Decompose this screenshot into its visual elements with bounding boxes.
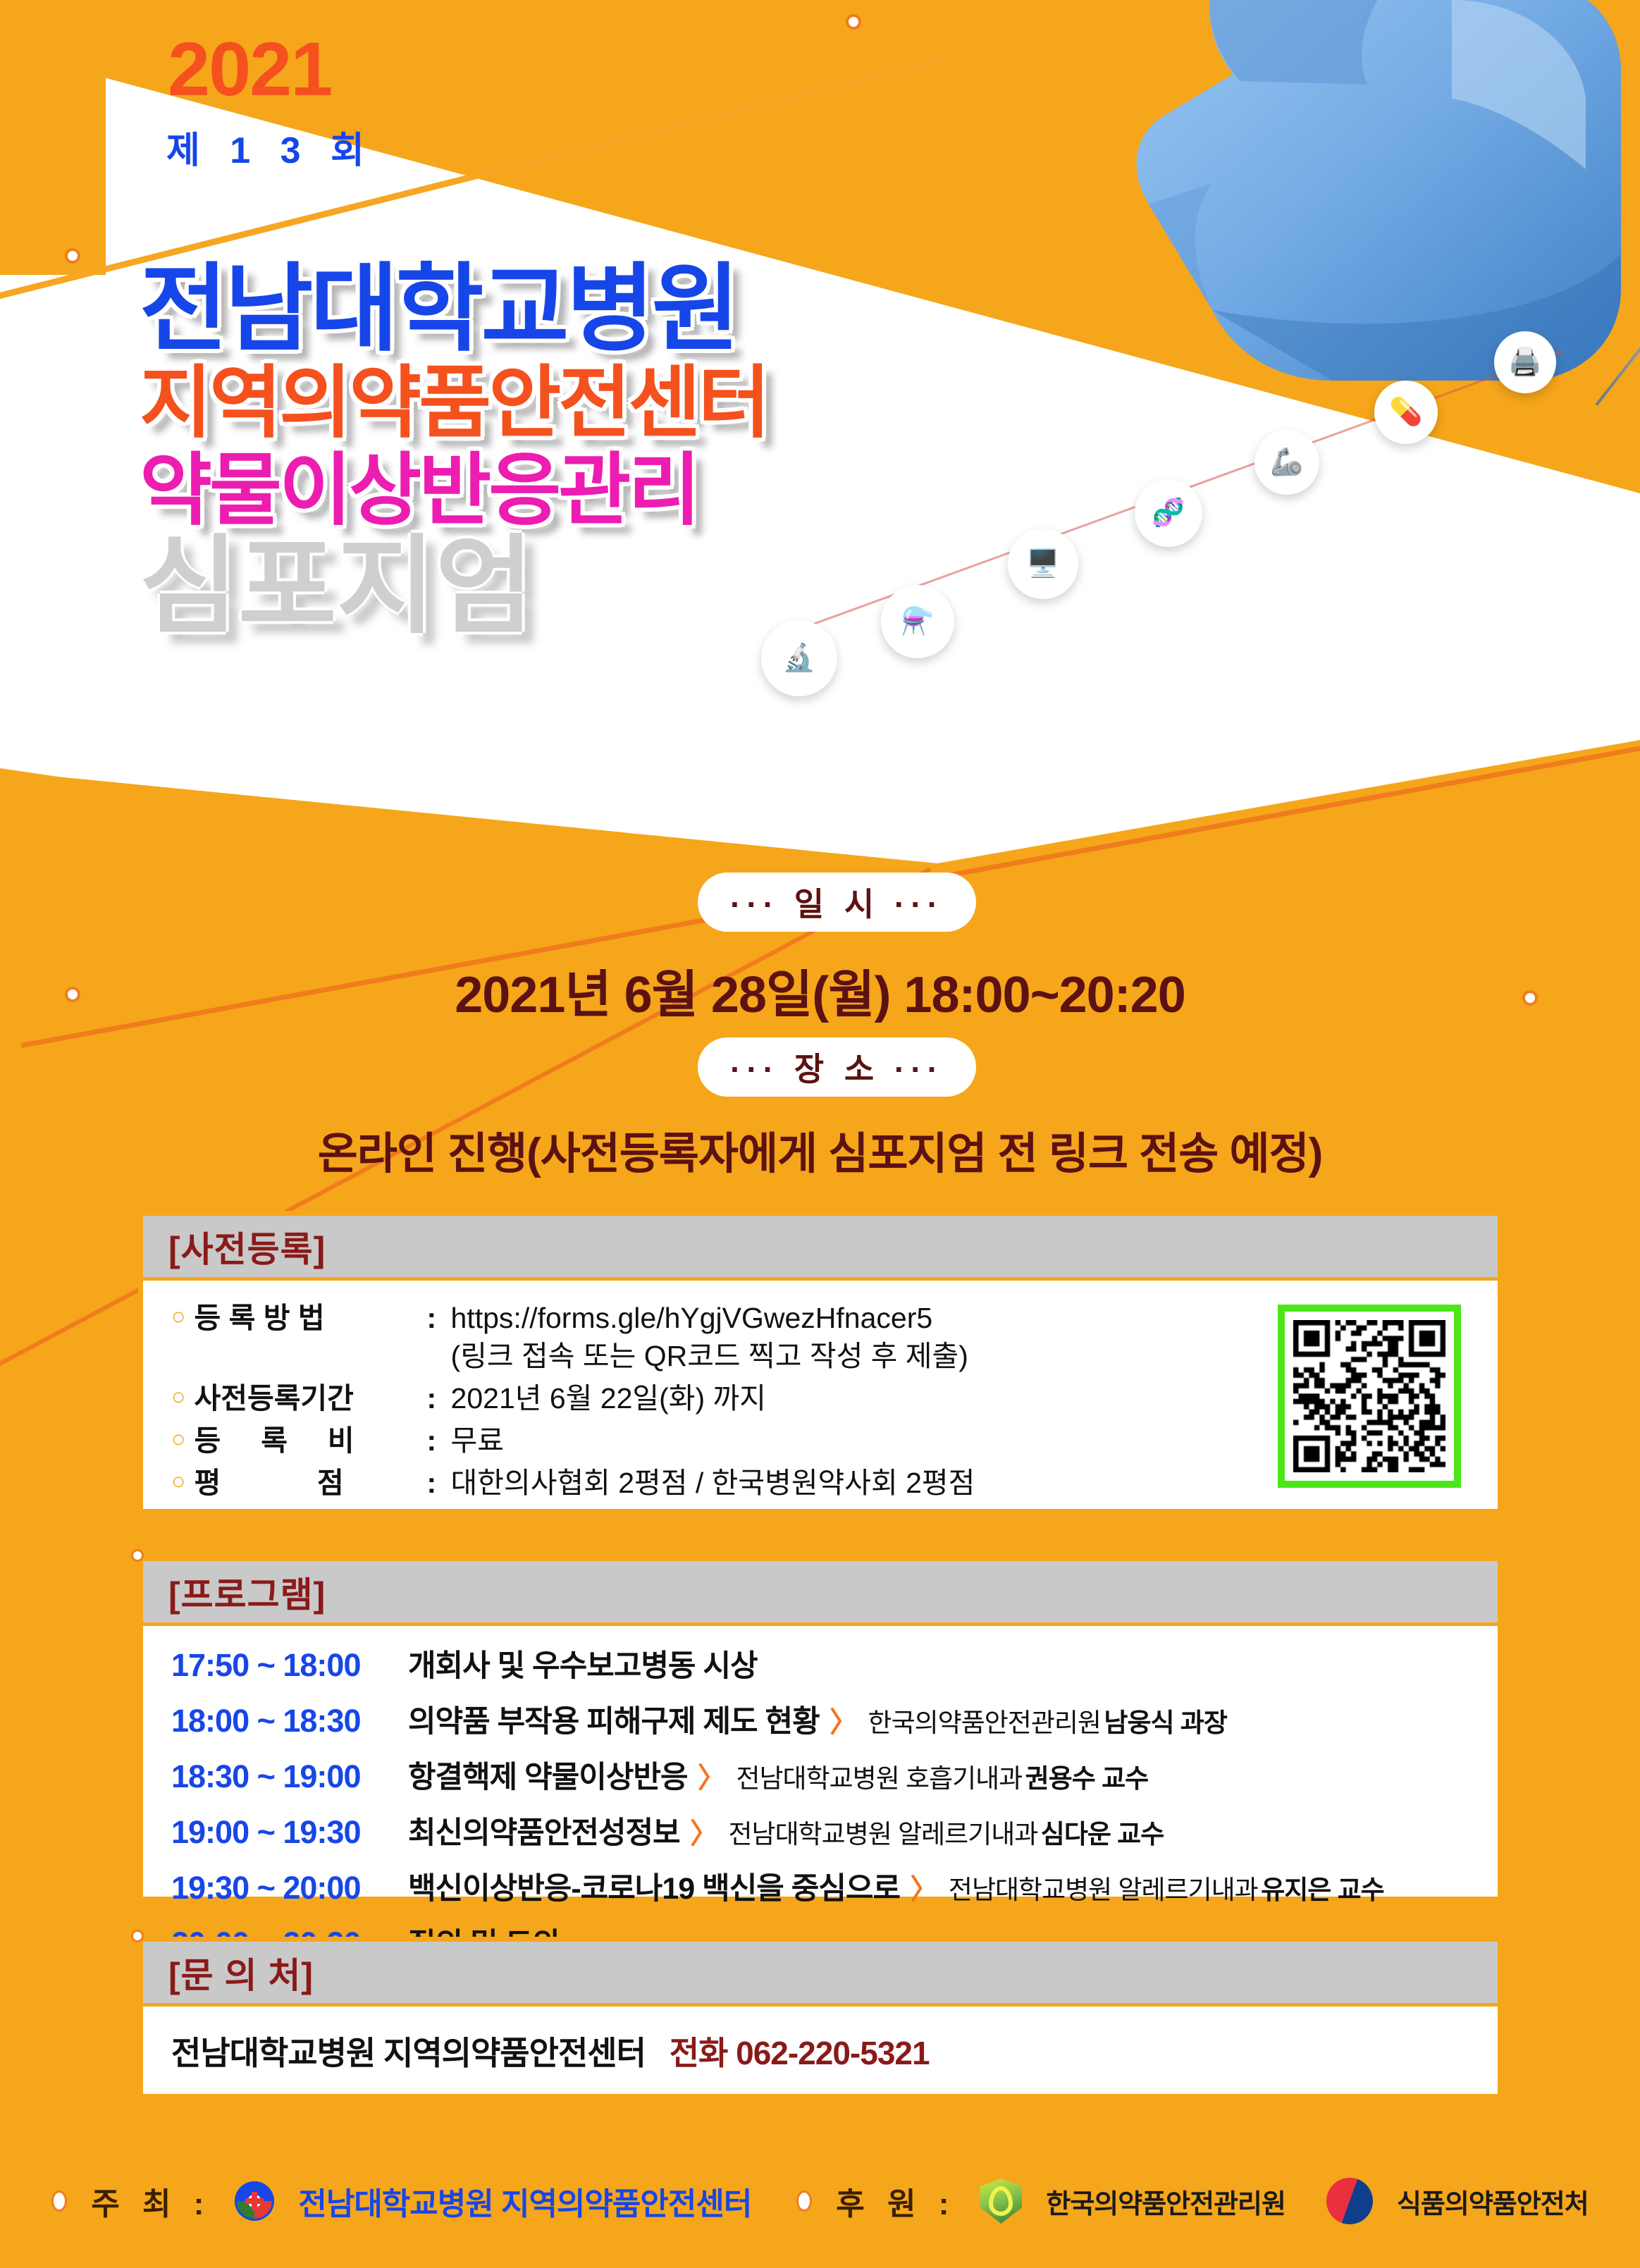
- cnuh-logo-icon: [235, 2181, 274, 2221]
- title-line-3: 약물이상반응관리: [140, 451, 985, 530]
- program-topic: 최신의약품안전성정보: [408, 1816, 680, 1850]
- program-separator-icon: 〉: [690, 1818, 718, 1849]
- contact-panel: [문 의 처] 전남대학교병원 지역의약품안전센터 전화 062-220-532…: [138, 1937, 1503, 2099]
- bullet-icon: ○: [171, 1464, 186, 1500]
- footer-dot-icon: [51, 2190, 67, 2212]
- place-value: 온라인 진행(사전등록자에게 심포지엄 전 링크 전송 예정): [0, 1118, 1640, 1181]
- program-time: 17:50 ~ 18:00: [171, 1647, 408, 1684]
- robot-arm-icon: 🦾: [1254, 430, 1319, 495]
- program-row: 18:00 ~ 18:30 의약품 부작용 피해구제 제도 현황 〉 한국의약품…: [171, 1697, 1474, 1741]
- registration-colon: :: [427, 1379, 451, 1417]
- sponsor-label: 후 원 :: [836, 2178, 956, 2224]
- registration-heading-text: [사전등록]: [168, 1221, 326, 1272]
- monitor-icon: 🖥️: [1008, 529, 1078, 599]
- registration-label: 등 록 비: [195, 1422, 427, 1460]
- contact-tel-label: 전화: [670, 2035, 728, 2071]
- program-time: 19:30 ~ 20:00: [171, 1870, 408, 1906]
- registration-heading: [사전등록]: [143, 1216, 1498, 1281]
- contact-line: 전남대학교병원 지역의약품안전센터 전화 062-220-5321: [171, 2028, 1474, 2074]
- poster-title: 전남대학교병원 지역의약품안전센터 약물이상반응관리 심포지엄: [140, 261, 985, 640]
- program-speaker: 심다운 교수: [1041, 1820, 1164, 1849]
- registration-colon: :: [427, 1464, 451, 1502]
- poster-root: 2021 제 1 3 회: [0, 0, 1640, 2268]
- registration-panel: [사전등록] ○ 등 록 방 법 : https://forms.gle/hYg…: [138, 1211, 1503, 1514]
- program-row: 19:30 ~ 20:00 백신이상반응-코로나19 백신을 중심으로 〉 전남…: [171, 1864, 1474, 1908]
- dna-icon: 🧬: [1135, 479, 1202, 547]
- decor-dot-left-upper: [65, 248, 80, 264]
- bullet-icon: ○: [171, 1379, 186, 1415]
- registration-label: 사전등록기간: [195, 1379, 427, 1417]
- program-separator-icon: 〉: [910, 1874, 938, 1905]
- mfds-logo-icon: [1326, 2178, 1373, 2224]
- qr-code-canvas: [1293, 1320, 1445, 1472]
- program-topic: 항결핵제 약물이상반응: [408, 1761, 688, 1794]
- registration-label: 평 점: [195, 1464, 427, 1502]
- program-speaker: 유지은 교수: [1261, 1875, 1383, 1904]
- program-panel: [프로그램] 17:50 ~ 18:00 개회사 및 우수보고병동 시상 18:…: [138, 1556, 1503, 1902]
- host-name: 전남대학교병원 지역의약품안전센터: [298, 2178, 751, 2224]
- poster-year: 2021: [168, 31, 331, 107]
- program-row: 18:30 ~ 19:00 항결핵제 약물이상반응 〉 전남대학교병원 호흡기내…: [171, 1753, 1474, 1796]
- program-separator-icon: 〉: [830, 1707, 858, 1738]
- program-affiliation: 전남대학교병원 호흡기내과: [736, 1764, 1022, 1793]
- program-time: 18:30 ~ 19:00: [171, 1758, 408, 1795]
- contact-body: 전남대학교병원 지역의약품안전센터 전화 062-220-5321: [143, 2007, 1498, 2093]
- program-heading-text: [프로그램]: [168, 1567, 326, 1617]
- host-label: 주 최 :: [91, 2178, 211, 2224]
- program-row: 17:50 ~ 18:00 개회사 및 우수보고병동 시상: [171, 1641, 1474, 1685]
- contact-heading: [문 의 처]: [143, 1942, 1498, 2007]
- title-line-4: 심포지엄: [140, 533, 985, 640]
- program-affiliation: 전남대학교병원 알레르기내과: [729, 1820, 1038, 1849]
- lab-computer-icon: 🖨️: [1494, 331, 1556, 393]
- qr-code-registration[interactable]: [1278, 1305, 1461, 1488]
- program-topic: 백신이상반응-코로나19 백신을 중심으로: [408, 1872, 900, 1906]
- bullet-icon: ○: [171, 1422, 186, 1457]
- title-line-1: 전남대학교병원: [140, 261, 985, 357]
- poster-edition: 제 1 3 회: [166, 132, 374, 169]
- registration-url[interactable]: https://forms.gle/hYgjVGwezHfnacer5: [451, 1302, 933, 1334]
- program-speaker: 남웅식 과장: [1104, 1708, 1226, 1737]
- sponsor-name-1: 한국의약품안전관리원: [1046, 2182, 1286, 2221]
- registration-body: ○ 등 록 방 법 : https://forms.gle/hYgjVGwezH…: [143, 1281, 1498, 1525]
- program-heading: [프로그램]: [143, 1561, 1498, 1626]
- program-speaker: 권용수 교수: [1025, 1764, 1148, 1793]
- datetime-label-pill: ··· 일 시 ···: [698, 873, 976, 932]
- program-time: 19:00 ~ 19:30: [171, 1814, 408, 1851]
- registration-colon: :: [427, 1422, 451, 1460]
- contact-tel-value[interactable]: 062-220-5321: [736, 2035, 929, 2071]
- program-separator-icon: 〉: [698, 1763, 726, 1794]
- program-time: 18:00 ~ 18:30: [171, 1703, 408, 1739]
- footer-dot-icon: [796, 2190, 812, 2212]
- kida-logo-icon: [980, 2178, 1022, 2224]
- registration-colon: :: [427, 1299, 451, 1337]
- contact-org: 전남대학교병원 지역의약품안전센터: [171, 2035, 646, 2071]
- place-label-pill: ··· 장 소 ···: [698, 1037, 976, 1097]
- program-topic: 의약품 부작용 피해구제 제도 현황: [408, 1705, 820, 1739]
- decor-dot-panel-2: [131, 1930, 144, 1942]
- program-topic: 개회사 및 우수보고병동 시상: [408, 1649, 758, 1683]
- registration-label: 등 록 방 법: [195, 1299, 427, 1337]
- datetime-value: 2021년 6월 28일(월) 18:00~20:20: [0, 953, 1640, 1027]
- decor-dot-panel-1: [131, 1549, 144, 1562]
- program-affiliation: 전남대학교병원 알레르기내과: [949, 1875, 1258, 1904]
- contact-heading-text: [문 의 처]: [168, 1947, 314, 1998]
- footer: 주 최 : 전남대학교병원 지역의약품안전센터 후 원 : 한국의약품안전관리원…: [0, 2134, 1640, 2268]
- decor-dot-top-right: [846, 14, 861, 30]
- sponsor-name-2: 식품의약품안전처: [1397, 2182, 1589, 2221]
- pills-icon: 💊: [1374, 381, 1438, 444]
- program-row: 19:00 ~ 19:30 최신의약품안전성정보 〉 전남대학교병원 알레르기내…: [171, 1808, 1474, 1852]
- program-affiliation: 한국의약품안전관리원: [868, 1708, 1101, 1737]
- bullet-icon: ○: [171, 1299, 186, 1335]
- title-line-2: 지역의약품안전센터: [140, 364, 985, 443]
